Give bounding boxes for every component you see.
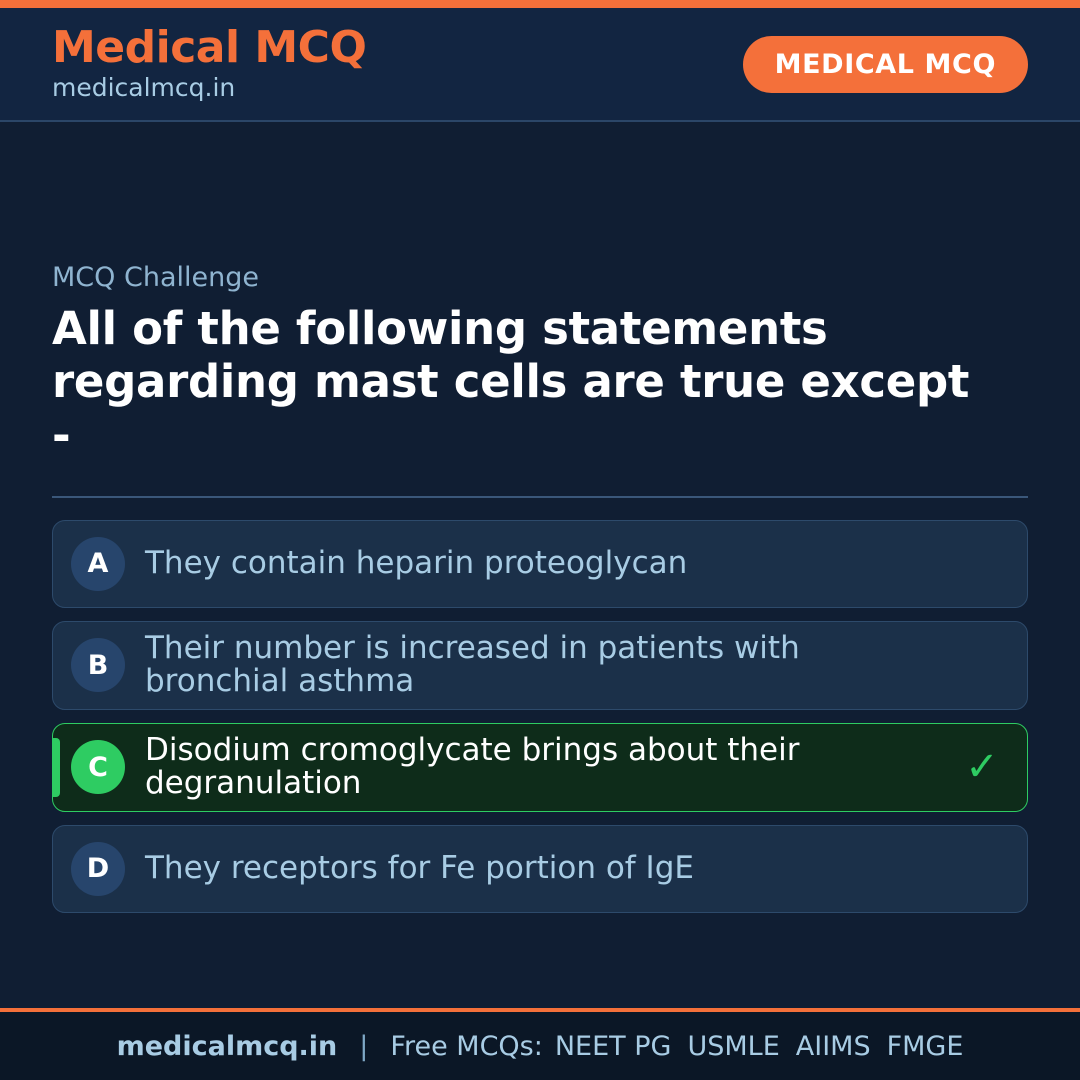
option-letter-badge: A: [71, 537, 125, 591]
brand: Medical MCQ medicalmcq.in: [52, 25, 366, 103]
option-text: Disodium cromoglycate brings about their…: [145, 734, 959, 801]
question-block: MCQ Challenge All of the following state…: [52, 262, 1028, 462]
section-divider: [52, 496, 1028, 498]
question-text: All of the following statements regardin…: [52, 302, 982, 461]
option-text: They receptors for Fe portion of IgE: [145, 852, 959, 885]
footer-separator: |: [359, 1031, 368, 1062]
brand-title: Medical MCQ: [52, 25, 366, 71]
top-accent-bar: [0, 0, 1080, 8]
check-icon: ✓: [959, 747, 1005, 787]
options-list: A They contain heparin proteoglycan ✓ B …: [52, 520, 1028, 913]
footer-exam-fmge[interactable]: FMGE: [887, 1031, 964, 1062]
main-content: MCQ Challenge All of the following state…: [0, 122, 1080, 1008]
option-letter-badge: D: [71, 842, 125, 896]
option-letter-badge: B: [71, 638, 125, 692]
option-c[interactable]: C Disodium cromoglycate brings about the…: [52, 723, 1028, 812]
footer-label: Free MCQs:: [390, 1031, 542, 1062]
footer-exam-usmle[interactable]: USMLE: [687, 1031, 779, 1062]
header-badge: MEDICAL MCQ: [743, 36, 1028, 93]
option-text: Their number is increased in patients wi…: [145, 632, 959, 699]
option-b[interactable]: B Their number is increased in patients …: [52, 621, 1028, 710]
header: Medical MCQ medicalmcq.in MEDICAL MCQ: [0, 8, 1080, 122]
option-text: They contain heparin proteoglycan: [145, 547, 959, 580]
brand-subtitle: medicalmcq.in: [52, 73, 366, 103]
correct-accent-bar: [53, 738, 60, 797]
option-a[interactable]: A They contain heparin proteoglycan ✓: [52, 520, 1028, 608]
footer: medicalmcq.in | Free MCQs: NEET PG USMLE…: [0, 1012, 1080, 1080]
footer-site-link[interactable]: medicalmcq.in: [117, 1031, 338, 1062]
footer-content: medicalmcq.in | Free MCQs: NEET PG USMLE…: [117, 1031, 964, 1062]
footer-exam-neetpg[interactable]: NEET PG: [555, 1031, 672, 1062]
mcq-card: Medical MCQ medicalmcq.in MEDICAL MCQ MC…: [0, 0, 1080, 1080]
kicker-label: MCQ Challenge: [52, 262, 1028, 294]
footer-exam-aiims[interactable]: AIIMS: [796, 1031, 871, 1062]
option-d[interactable]: D They receptors for Fe portion of IgE ✓: [52, 825, 1028, 913]
option-letter-badge: C: [71, 740, 125, 794]
